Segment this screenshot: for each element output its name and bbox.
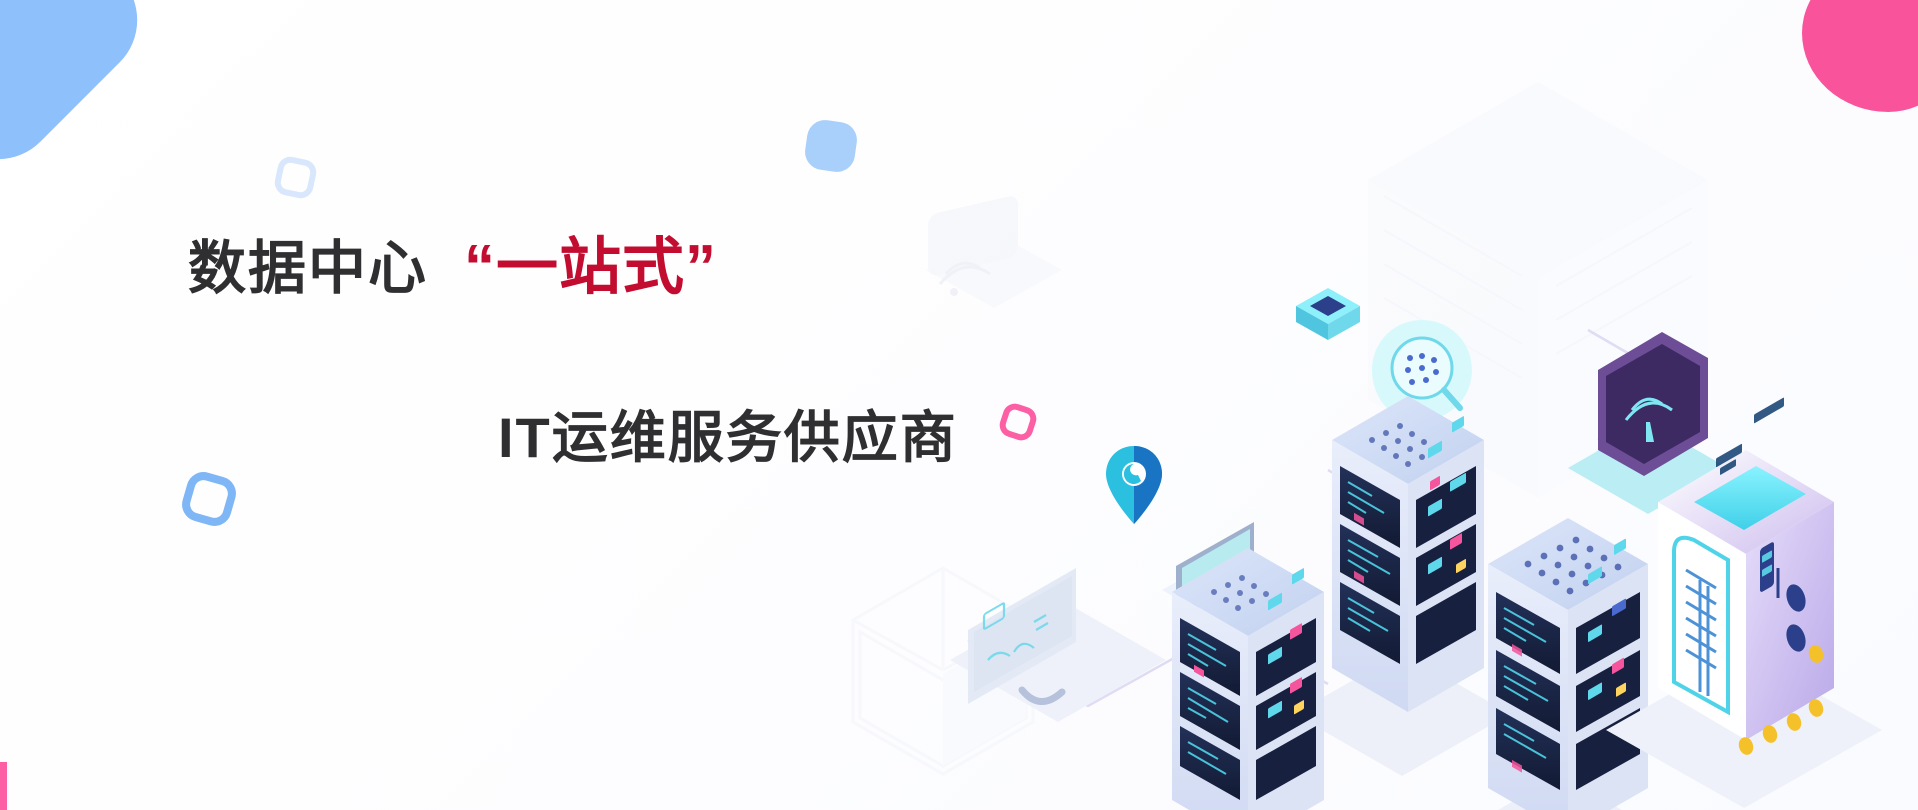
ring-blue-large-decoration xyxy=(178,468,240,530)
server-rack-left xyxy=(1132,548,1348,810)
bar-bottom-left-decoration xyxy=(0,762,7,810)
dot-blue-decoration xyxy=(803,118,859,174)
ring-blue-small-decoration xyxy=(272,154,318,200)
headline-prefix: 数据中心 xyxy=(188,236,428,303)
monitor-screen-left xyxy=(950,568,1166,722)
data-center-illustration xyxy=(898,0,1918,810)
cube-node xyxy=(1296,288,1360,340)
headline-accent: “一站式” xyxy=(464,232,717,303)
location-pin xyxy=(1106,446,1162,524)
hero-banner: 数据中心 “一站式” IT运维服务供应商 xyxy=(0,0,1918,810)
wifi-panel xyxy=(926,194,1062,308)
server-rack-center xyxy=(1294,396,1510,776)
blob-top-left-decoration xyxy=(0,0,162,184)
